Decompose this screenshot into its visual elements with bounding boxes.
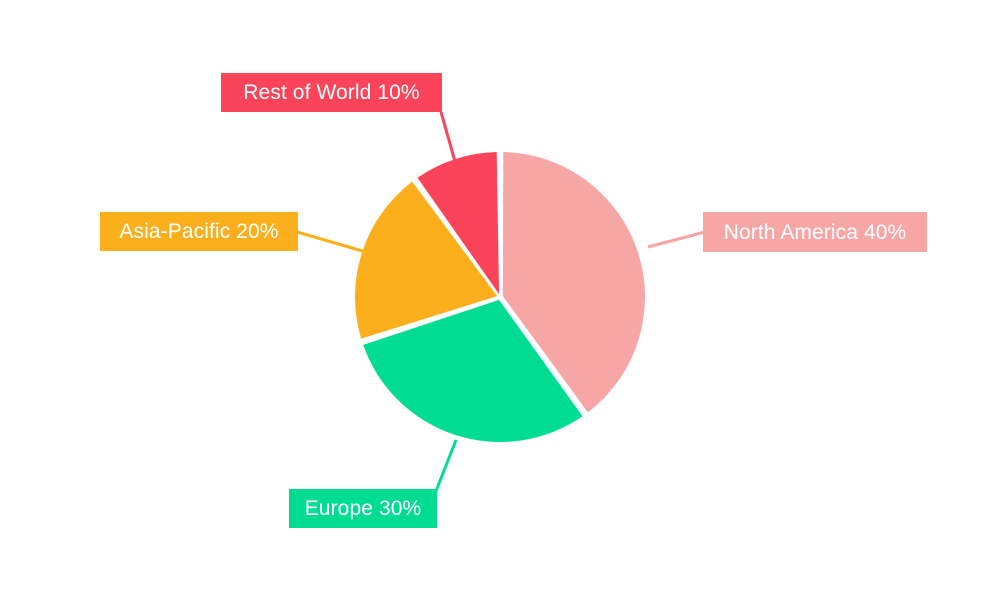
leader-line-asia-pacific [297, 232, 366, 252]
pie-slice-group [355, 152, 645, 442]
pie-slice-label-europe[interactable]: Europe 30% [289, 489, 437, 528]
pie-slice-label-text: Rest of World 10% [243, 82, 419, 103]
pie-slice-label-north-america[interactable]: North America 40% [703, 212, 927, 252]
leader-line-europe [436, 440, 456, 491]
leader-line-north-america [648, 232, 705, 247]
pie-slice-label-rest-of-world[interactable]: Rest of World 10% [221, 73, 442, 112]
pie-slice-label-asia-pacific[interactable]: Asia-Pacific 20% [100, 212, 298, 251]
pie-slice-label-text: Europe 30% [305, 498, 422, 519]
pie-slice-label-text: Asia-Pacific 20% [119, 221, 278, 242]
leader-line-rest-of-world [441, 112, 456, 165]
pie-slice-label-text: North America 40% [724, 222, 907, 243]
pie-chart-figure: North America 40% Europe 30% Asia-Pacifi… [0, 0, 1000, 600]
pie-chart-canvas [0, 0, 1000, 600]
